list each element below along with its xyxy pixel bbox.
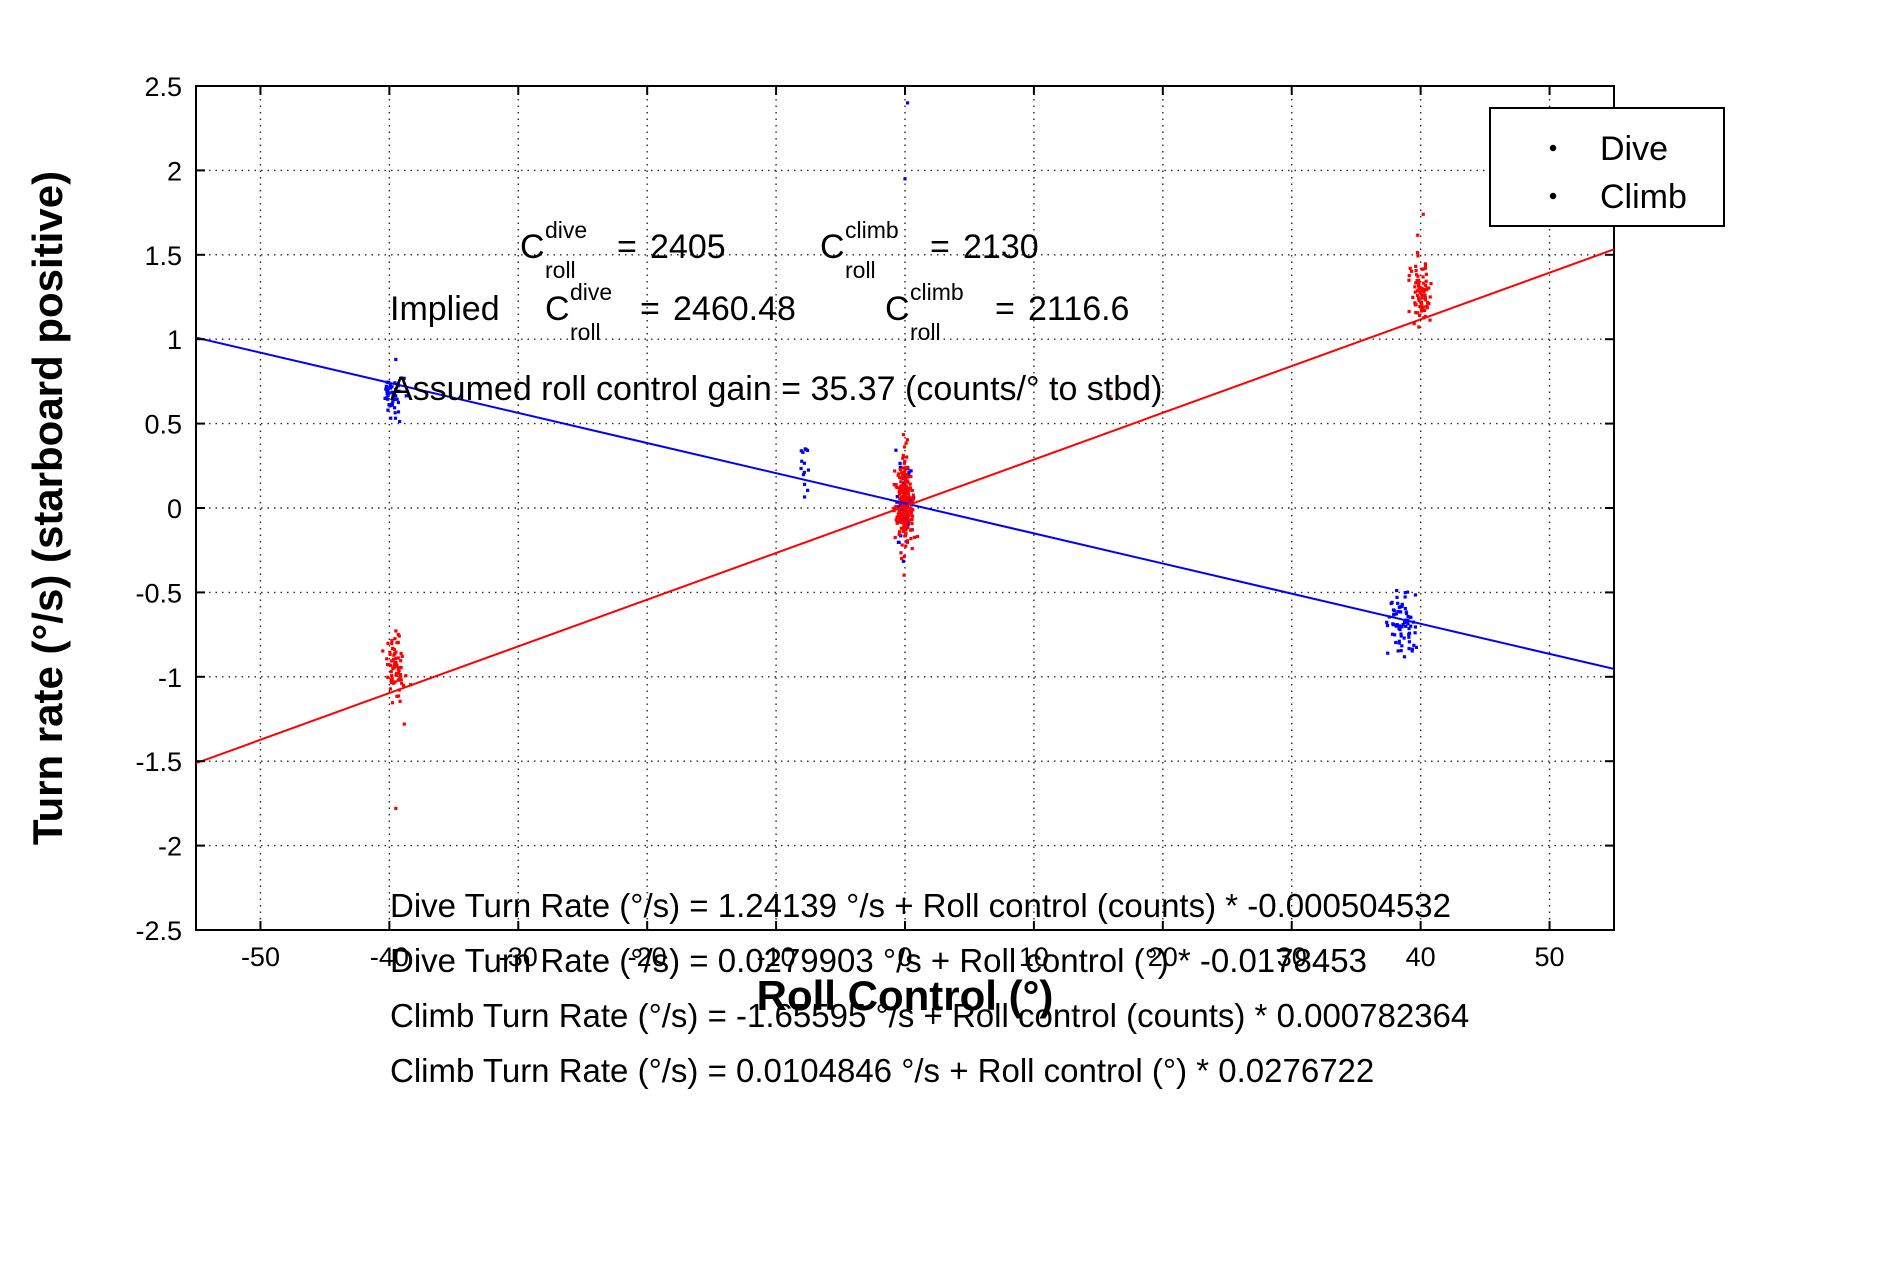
equation-climb-counts: Climb Turn Rate (°/s) = -1.65595 °/s + R… xyxy=(390,997,1469,1034)
legend-climb-label: Climb xyxy=(1600,178,1687,216)
implied-dive-subscript: roll xyxy=(570,319,601,345)
y-tick-label: -1 xyxy=(158,663,182,693)
c-roll-climb-superscript: climb xyxy=(845,217,899,243)
implied-dive-symbol: C xyxy=(545,290,570,328)
y-tick-label: 1.5 xyxy=(144,241,182,271)
y-tick-label: 0 xyxy=(167,494,182,524)
implied-climb-subscript: roll xyxy=(910,319,941,345)
x-tick-label: 40 xyxy=(1406,942,1436,972)
y-tick-label: 2 xyxy=(167,156,182,186)
turn-rate-scatter-plot: -50-40-30-20-1001020304050 -2.5-2-1.5-1-… xyxy=(0,0,1891,1262)
legend-dive-marker xyxy=(1550,145,1556,151)
implied-dive-superscript: dive xyxy=(570,279,612,305)
roll-control-gain-text: Assumed roll control gain = 35.37 (count… xyxy=(390,370,1162,408)
implied-dive-equals: = xyxy=(640,290,660,328)
c-roll-dive-equals: = xyxy=(617,228,637,266)
y-tick-label: -1.5 xyxy=(135,747,182,777)
c-roll-climb-value: 2130 xyxy=(963,228,1039,266)
c-roll-climb-symbol: C xyxy=(820,228,845,266)
implied-climb-equals: = xyxy=(995,290,1015,328)
implied-climb-value: 2116.6 xyxy=(1028,290,1129,328)
y-tick-label: 1 xyxy=(167,325,182,355)
y-tick-label: 2.5 xyxy=(144,72,182,102)
equation-dive-counts: Dive Turn Rate (°/s) = 1.24139 °/s + Rol… xyxy=(390,887,1451,924)
implied-prefix: Implied xyxy=(390,290,500,328)
implied-climb-superscript: climb xyxy=(910,279,964,305)
c-roll-climb-subscript: roll xyxy=(845,257,876,283)
implied-climb-symbol: C xyxy=(885,290,910,328)
chart-page: SG510 OmanSpring2015, dive 479 started 1… xyxy=(0,0,1891,1262)
c-roll-climb-equals: = xyxy=(930,228,950,266)
legend-dive-label: Dive xyxy=(1600,130,1668,168)
implied-dive-value: 2460.48 xyxy=(673,290,796,328)
x-tick-label: 50 xyxy=(1535,942,1565,972)
y-tick-label: -2.5 xyxy=(135,916,182,946)
y-axis-label: Turn rate (°/s) (starboard positive) xyxy=(24,171,71,845)
c-roll-dive-symbol: C xyxy=(520,228,545,266)
y-tick-label: -0.5 xyxy=(135,578,182,608)
legend-box[interactable]: Dive Climb xyxy=(1490,108,1724,226)
c-roll-dive-superscript: dive xyxy=(545,217,587,243)
y-tick-label: -2 xyxy=(158,832,182,862)
equation-dive-degrees: Dive Turn Rate (°/s) = 0.0279903 °/s + R… xyxy=(390,942,1367,979)
x-tick-label: -50 xyxy=(241,942,280,972)
equation-climb-degrees: Climb Turn Rate (°/s) = 0.0104846 °/s + … xyxy=(390,1052,1374,1089)
c-roll-dive-value: 2405 xyxy=(650,228,726,266)
y-tick-label: 0.5 xyxy=(144,410,182,440)
legend-climb-marker xyxy=(1550,193,1556,199)
